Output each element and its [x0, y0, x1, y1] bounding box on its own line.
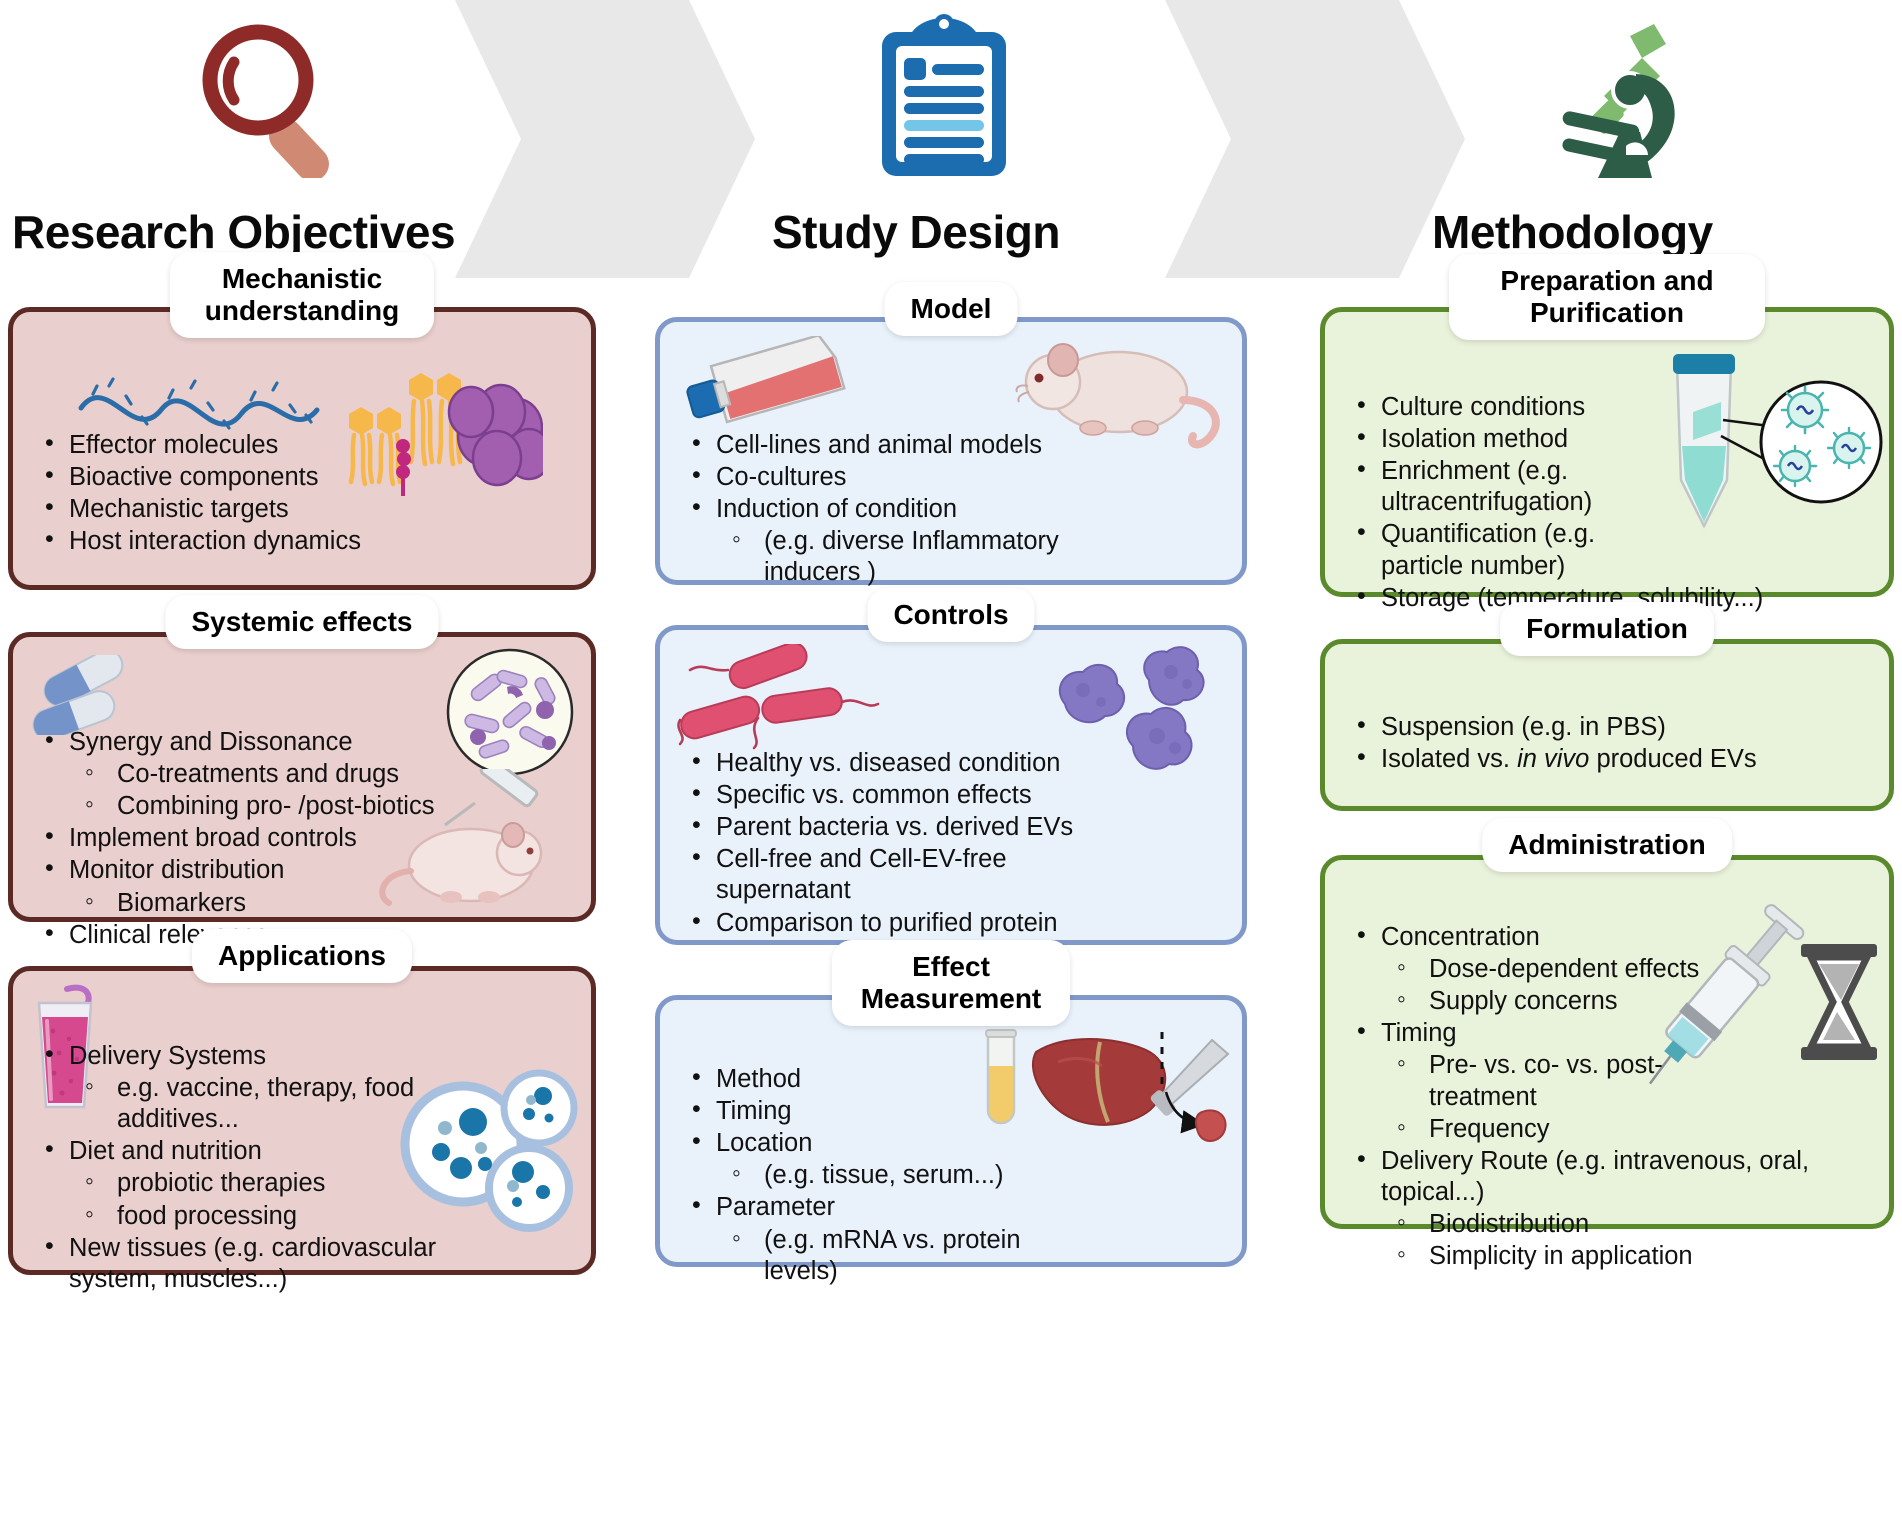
sub-list-item: e.g. vaccine, therapy, food additives...: [69, 1073, 469, 1135]
sub-list-item: Pre- vs. co- vs. post-treatment: [1381, 1050, 1681, 1112]
capsule-pills-icon: [23, 655, 203, 735]
list-item: Healthy vs. diseased condition: [678, 748, 1224, 779]
card-title: Administration: [1482, 818, 1732, 872]
bullet-list: Culture conditions Isolation method Enri…: [1343, 392, 1871, 614]
list-item: Timing Pre- vs. co- vs. post-treatment F…: [1343, 1018, 1871, 1144]
card-title: Formulation: [1500, 602, 1714, 656]
list-item-text-tail: produced EVs: [1589, 745, 1756, 773]
column-title-research-objectives: Research Objectives: [12, 205, 455, 259]
microscope-icon: [1548, 18, 1698, 183]
sub-list: (e.g. diverse Inflammatory inducers ): [716, 526, 1224, 588]
list-item: Effector molecules: [31, 430, 573, 461]
list-item: Host interaction dynamics: [31, 526, 573, 557]
list-item: Co-cultures: [678, 462, 1224, 493]
list-item: Delivery Systems e.g. vaccine, therapy, …: [31, 1041, 573, 1135]
column-study-design: Model: [655, 285, 1247, 1267]
list-item: Comparison to purified protein: [678, 908, 1224, 939]
list-item: Enrichment (e.g. ultracentrifugation): [1343, 456, 1643, 518]
list-item: Mechanistic targets: [31, 494, 573, 525]
card-title: Effect Measurement: [832, 940, 1070, 1026]
sub-list: Co-treatments and drugs Combining pro- /…: [69, 759, 573, 822]
list-item-text-italic: in vivo: [1517, 745, 1589, 773]
column-title-methodology: Methodology: [1432, 205, 1713, 259]
card-title: Preparation and Purification: [1449, 254, 1765, 340]
column-title-study-design: Study Design: [772, 205, 1060, 259]
list-item: Monitor distribution Biomarkers: [31, 855, 573, 918]
sub-list-item: (e.g. diverse Inflammatory inducers ): [716, 526, 1136, 588]
column-methodology: Preparation and Purification: [1320, 285, 1894, 1229]
sub-list: e.g. vaccine, therapy, food additives...: [69, 1073, 573, 1135]
card-controls: Controls: [655, 625, 1247, 945]
list-item: Timing: [678, 1096, 1224, 1127]
sub-list-item: probiotic therapies: [69, 1168, 573, 1199]
sub-list-item: Dose-dependent effects: [1381, 954, 1871, 985]
list-item: Isolation method: [1343, 424, 1871, 455]
list-item: New tissues (e.g. cardiovascular system,…: [31, 1233, 501, 1295]
card-title: Applications: [192, 929, 412, 983]
list-item: Method: [678, 1064, 1224, 1095]
sub-list-item: Combining pro- /post-biotics: [69, 791, 573, 822]
card-preparation-and-purification: Preparation and Purification: [1320, 307, 1894, 597]
list-item: Suspension (e.g. in PBS): [1343, 712, 1871, 743]
bullet-list: Method Timing Location (e.g. tissue, ser…: [678, 1064, 1224, 1287]
card-title: Mechanistic understanding: [170, 252, 434, 338]
sub-list: Pre- vs. co- vs. post-treatment Frequenc…: [1381, 1050, 1871, 1144]
sub-list-item: Frequency: [1381, 1114, 1871, 1145]
list-item: Concentration Dose-dependent effects Sup…: [1343, 922, 1871, 1017]
card-mechanistic-understanding: Mechanistic understanding: [8, 307, 596, 590]
sub-list-item: Biomarkers: [69, 888, 573, 919]
culture-flask-icon: [670, 336, 860, 431]
clipboard-icon: [874, 14, 1014, 182]
sub-list-item: Biodistribution: [1381, 1209, 1813, 1240]
bullet-list: Suspension (e.g. in PBS) Isolated vs. in…: [1343, 712, 1871, 775]
list-item: Culture conditions: [1343, 392, 1871, 423]
sub-list: (e.g. mRNA vs. protein levels): [716, 1225, 1224, 1287]
sub-list: (e.g. tissue, serum...): [716, 1160, 1224, 1191]
bullet-list: Synergy and Dissonance Co-treatments and…: [31, 727, 573, 951]
list-item: Bioactive components: [31, 462, 573, 493]
list-item: Specific vs. common effects: [678, 780, 1224, 811]
chevron-arrow-1: [455, 0, 755, 278]
list-item: Parameter (e.g. mRNA vs. protein levels): [678, 1192, 1224, 1286]
chevron-arrow-2: [1165, 0, 1465, 278]
list-item: Synergy and Dissonance Co-treatments and…: [31, 727, 573, 822]
sub-list-item: Co-treatments and drugs: [69, 759, 573, 790]
list-item-text-lead: Isolated vs.: [1381, 745, 1517, 773]
card-model: Model: [655, 317, 1247, 585]
list-item: Cell-free and Cell-EV-free supernatant: [678, 844, 1018, 906]
card-effect-measurement: Effect Measurement: [655, 995, 1247, 1267]
list-item: Cell-lines and animal models: [678, 430, 1224, 461]
bullet-list: Healthy vs. diseased condition Specific …: [678, 748, 1224, 939]
list-item: Implement broad controls: [31, 823, 573, 854]
sub-list-item: Supply concerns: [1381, 986, 1871, 1017]
bullet-list: Effector molecules Bioactive components …: [31, 430, 573, 557]
sub-list: Biomarkers: [69, 888, 573, 919]
magnifying-glass-icon: [190, 18, 350, 178]
card-applications: Applications: [8, 966, 596, 1275]
sub-list-item: (e.g. mRNA vs. protein levels): [716, 1225, 1046, 1287]
list-item: Quantification (e.g. particle number): [1343, 519, 1683, 581]
card-title: Model: [885, 282, 1018, 336]
card-title: Systemic effects: [165, 595, 438, 649]
sub-list-item: (e.g. tissue, serum...): [716, 1160, 1224, 1191]
bullet-list: Concentration Dose-dependent effects Sup…: [1343, 922, 1871, 1272]
sub-list-item: food processing: [69, 1201, 573, 1232]
column-research-objectives: Mechanistic understanding: [8, 285, 596, 1275]
list-item: Diet and nutrition probiotic therapies f…: [31, 1136, 573, 1231]
sub-list-item: Simplicity in application: [1381, 1241, 1813, 1272]
bullet-list: Cell-lines and animal models Co-cultures…: [678, 430, 1224, 589]
sub-list: Dose-dependent effects Supply concerns: [1381, 954, 1871, 1017]
card-administration: Administration: [1320, 855, 1894, 1229]
list-item: Delivery Route (e.g. intravenous, oral, …: [1343, 1146, 1813, 1272]
card-systemic-effects: Systemic effects: [8, 632, 596, 922]
list-item: Parent bacteria vs. derived EVs: [678, 812, 1224, 843]
list-item: Location (e.g. tissue, serum...): [678, 1128, 1224, 1191]
sub-list: probiotic therapies food processing: [69, 1168, 573, 1231]
sub-list: Biodistribution Simplicity in applicatio…: [1381, 1209, 1813, 1272]
list-item: Isolated vs. in vivo produced EVs: [1343, 744, 1871, 775]
card-title: Controls: [867, 588, 1034, 642]
card-formulation: Formulation Suspension (e.g. in PBS) Iso…: [1320, 639, 1894, 811]
list-item: Induction of condition (e.g. diverse Inf…: [678, 494, 1224, 588]
bullet-list: Delivery Systems e.g. vaccine, therapy, …: [31, 1041, 573, 1295]
rod-bacteria-icon: [670, 644, 900, 754]
